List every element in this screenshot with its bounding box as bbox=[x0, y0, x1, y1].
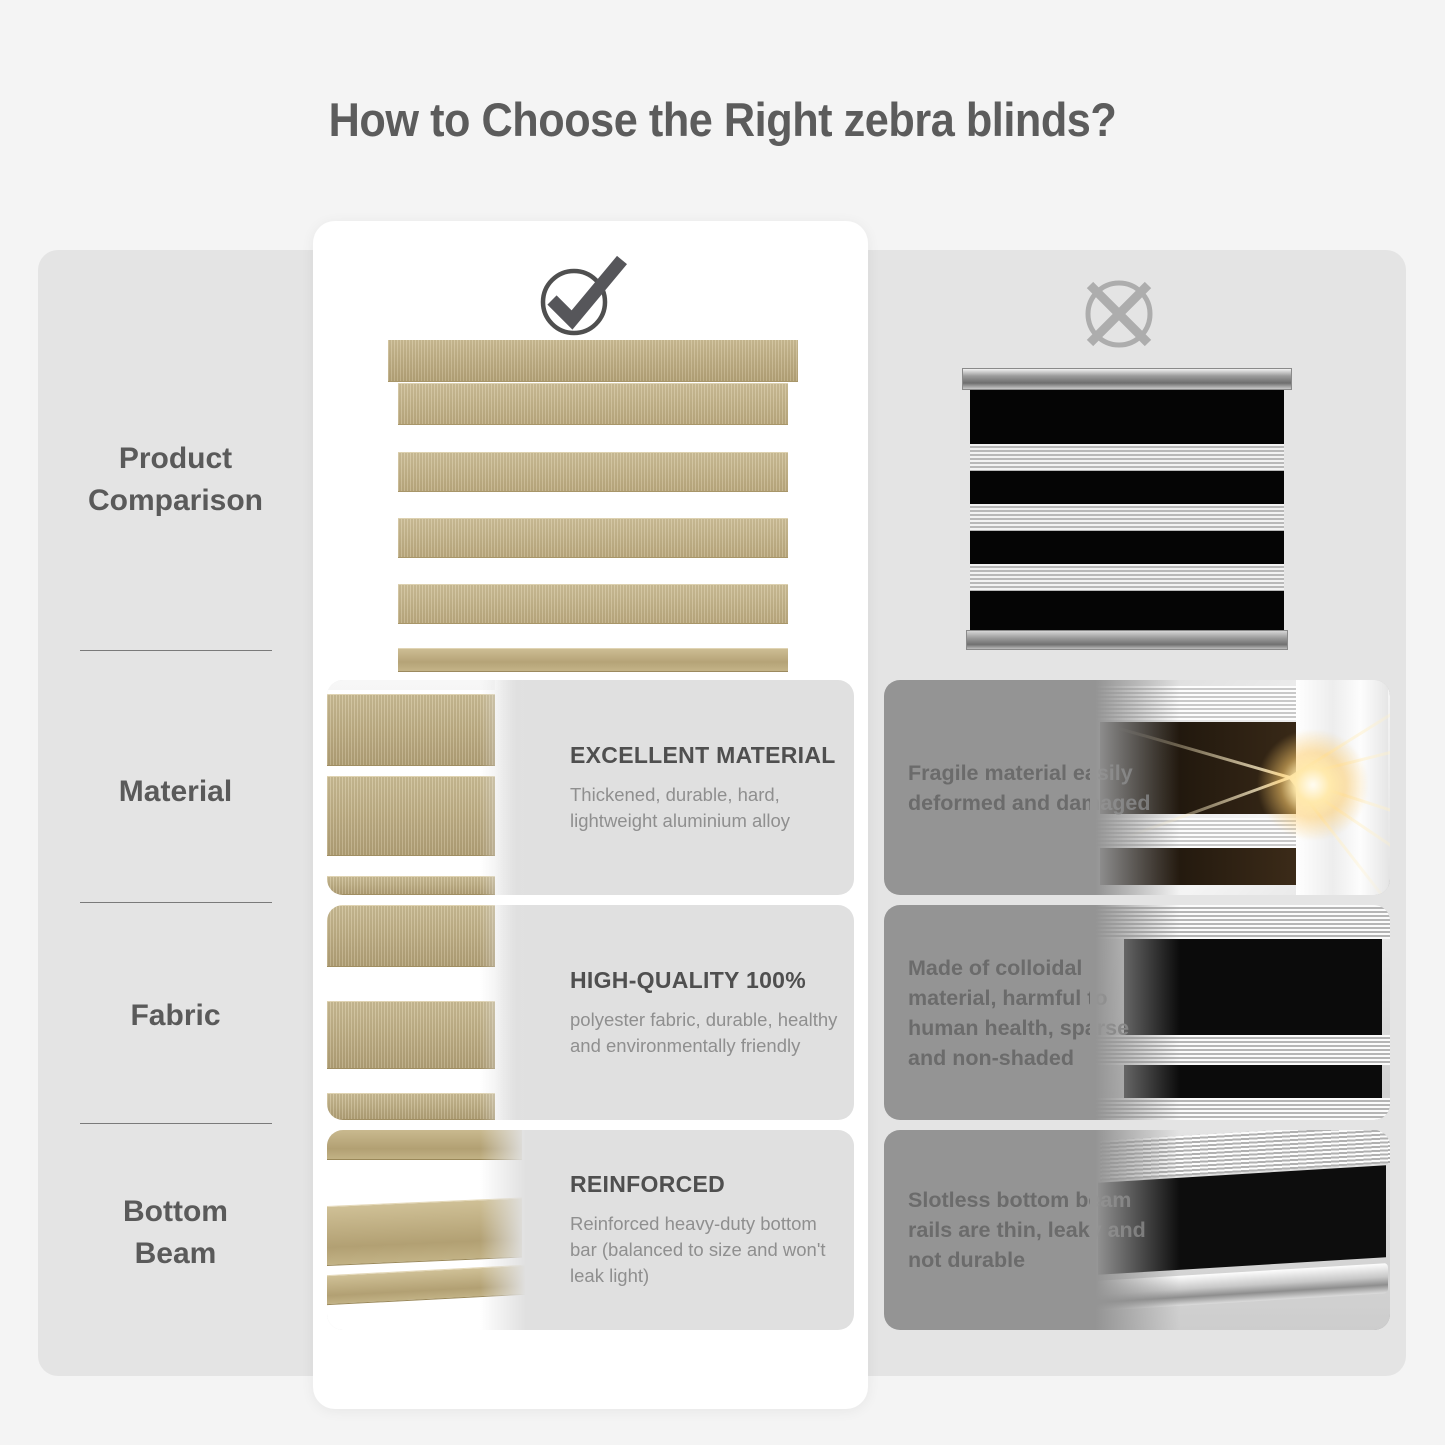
infographic-root: How to Choose the Right zebra blinds? bbox=[0, 0, 1445, 1445]
good-headrail bbox=[388, 340, 798, 382]
bad-product-hero-image bbox=[962, 368, 1292, 658]
row-label-line: Bottom bbox=[123, 1195, 228, 1228]
row-label-product-comparison: Product Comparison bbox=[38, 438, 313, 522]
good-card-heading: REINFORCED bbox=[570, 1171, 840, 1198]
good-material-image bbox=[327, 680, 532, 895]
bad-card-material[interactable]: Fragile material easily deformed and dam… bbox=[884, 680, 1390, 895]
cross-circle-icon bbox=[1077, 272, 1161, 356]
good-bottom-bar bbox=[398, 648, 788, 672]
good-card-body: polyester fabric, durable, healthy and e… bbox=[570, 1007, 840, 1059]
bad-headrail bbox=[962, 368, 1292, 390]
row-divider bbox=[80, 902, 272, 903]
row-label-bottom-beam: Bottom Beam bbox=[38, 1191, 313, 1275]
good-card-body: Reinforced heavy-duty bottom bar (balanc… bbox=[570, 1211, 840, 1289]
good-blind-band bbox=[398, 518, 788, 558]
good-card-fabric[interactable]: HIGH-QUALITY 100% polyester fabric, dura… bbox=[327, 905, 854, 1120]
row-label-line: Comparison bbox=[88, 484, 263, 517]
bad-material-image bbox=[1090, 680, 1390, 895]
row-divider bbox=[80, 1123, 272, 1124]
bad-blind-body bbox=[970, 390, 1284, 630]
bad-card-bottom-beam[interactable]: Slotless bottom beam rails are thin, lea… bbox=[884, 1130, 1390, 1330]
row-label-line: Product bbox=[119, 442, 232, 475]
row-label-material: Material bbox=[38, 771, 313, 813]
check-circle-icon bbox=[530, 252, 630, 340]
good-card-text: HIGH-QUALITY 100% polyester fabric, dura… bbox=[570, 905, 840, 1120]
bad-mesh-stripe bbox=[970, 504, 1284, 531]
bad-bottom-beam-image bbox=[1090, 1130, 1390, 1330]
good-card-material[interactable]: EXCELLENT MATERIAL Thickened, durable, h… bbox=[327, 680, 854, 895]
bad-card-fabric[interactable]: Made of colloidal material, harmful to h… bbox=[884, 905, 1390, 1120]
row-label-column: Product Comparison Material Fabric Botto… bbox=[38, 250, 313, 1376]
good-card-heading: EXCELLENT MATERIAL bbox=[570, 742, 840, 769]
bad-mesh-stripe bbox=[970, 444, 1284, 471]
row-label-line: Beam bbox=[135, 1237, 217, 1270]
row-divider bbox=[80, 650, 272, 651]
good-blind-band bbox=[398, 383, 788, 425]
good-card-text: REINFORCED Reinforced heavy-duty bottom … bbox=[570, 1130, 840, 1330]
good-fabric-image bbox=[327, 905, 532, 1120]
good-card-text: EXCELLENT MATERIAL Thickened, durable, h… bbox=[570, 680, 840, 895]
bad-fabric-image bbox=[1090, 905, 1390, 1120]
good-bottom-beam-image bbox=[327, 1130, 532, 1330]
bad-mesh-stripe bbox=[970, 564, 1284, 591]
good-blind-band bbox=[398, 452, 788, 492]
bad-bottom-rail bbox=[966, 630, 1288, 650]
good-card-body: Thickened, durable, hard, lightweight al… bbox=[570, 782, 840, 834]
good-blind-band bbox=[398, 584, 788, 624]
good-card-heading: HIGH-QUALITY 100% bbox=[570, 967, 840, 994]
row-label-fabric: Fabric bbox=[38, 995, 313, 1037]
good-card-bottom-beam[interactable]: REINFORCED Reinforced heavy-duty bottom … bbox=[327, 1130, 854, 1330]
good-product-hero-image bbox=[388, 340, 798, 670]
page-title: How to Choose the Right zebra blinds? bbox=[58, 92, 1387, 147]
